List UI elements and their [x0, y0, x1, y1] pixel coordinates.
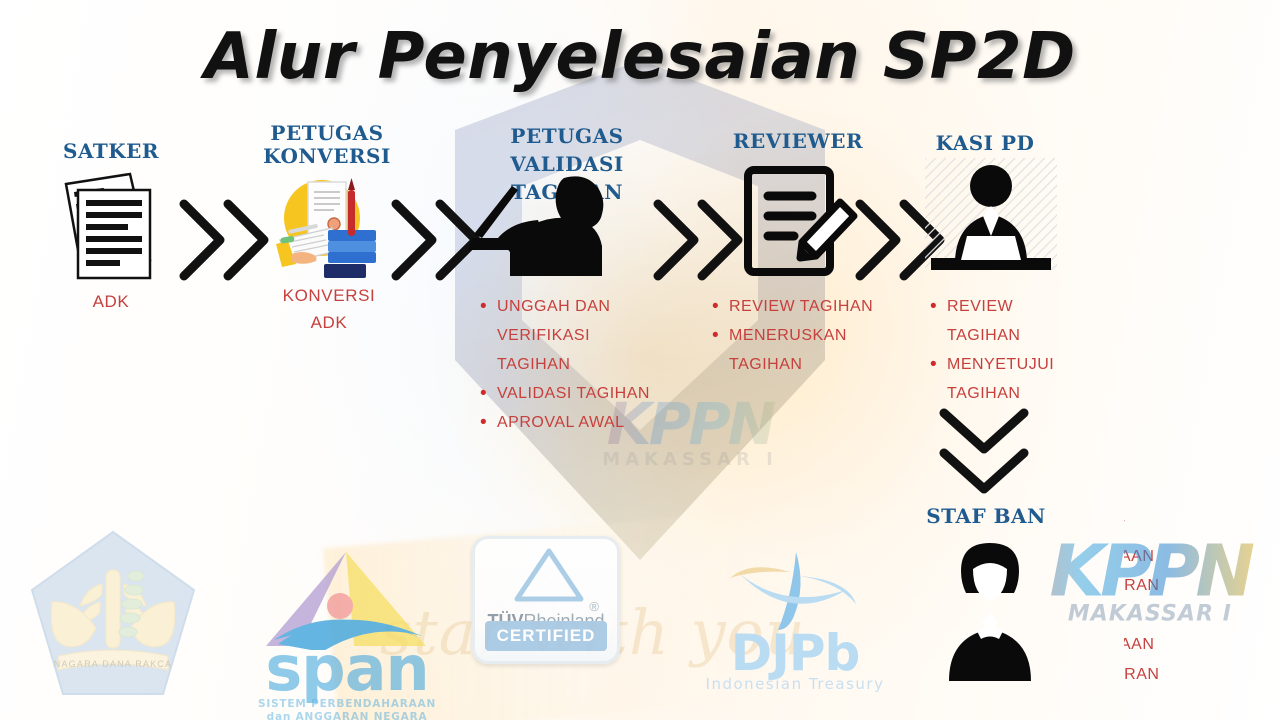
flow-step-staf-ban-header: STAF BAN: [910, 505, 1062, 528]
kemenkeu-logo: NAGARA DANA RAKCA: [28, 528, 198, 708]
staf-ban-note-line: RMINTAAN: [1124, 542, 1280, 572]
flow-step-petugas-validasi-bullets: UNGGAH DAN VERIFIKASI TAGIHAN VALIDASI T…: [480, 292, 660, 438]
djpb-logo: DJPb Indonesian Treasury: [700, 548, 890, 693]
span-wordmark: span: [258, 644, 436, 694]
flow-step-reviewer-header: REVIEWER: [718, 130, 878, 153]
span-sub-line-1: SISTEM PERBENDAHARAAN: [258, 698, 436, 711]
flow-step-kasi-pd-header: KASI PD: [920, 132, 1050, 155]
person-desk-icon: [925, 158, 1057, 291]
bullet-item: MENERUSKAN TAGIHAN: [712, 321, 892, 379]
staf-ban-note-line: RMINTAAN: [1124, 630, 1280, 660]
staf-ban-notes: MBUAT RMINTAAN MBAYARAN IM RMINTAAN MBAY…: [1124, 512, 1280, 690]
staf-ban-note-line: MBAYARAN: [1124, 660, 1280, 690]
staf-ban-note-line: MBUAT: [1124, 512, 1280, 542]
flow-step-reviewer-bullets: REVIEW TAGIHAN MENERUSKAN TAGIHAN: [712, 292, 892, 379]
person-laptop-icon: [468, 168, 640, 285]
page-title: Alur Penyelesaian SP2D: [0, 20, 1280, 94]
tuv-rheinland-logo: ® TÜVRheinland CERTIFIED: [472, 536, 620, 664]
bullet-item: REVIEW TAGIHAN: [712, 292, 892, 321]
bullet-item: REVIEW TAGIHAN: [930, 292, 1090, 350]
flow-step-kasi-pd[interactable]: KASI PD: [920, 132, 1050, 155]
flow-step-satker-caption: ADK: [46, 288, 176, 315]
double-chevron-right-icon: [176, 192, 276, 293]
bullet-item: APROVAL AWAL: [480, 408, 660, 437]
flow-step-reviewer[interactable]: REVIEWER: [718, 130, 878, 153]
flow-step-petugas-konversi[interactable]: PETUGAS KONVERSI: [262, 122, 392, 168]
konversi-books-icon: [266, 172, 384, 289]
documents-icon: [52, 168, 172, 285]
infographic-canvas: KPPN MAKASSAR I star with you Alur Penye…: [0, 0, 1280, 720]
flow-step-satker-header: SATKER: [46, 140, 176, 163]
djpb-wordmark: DJPb: [700, 632, 890, 675]
staf-ban-note-line: MBAYARAN: [1124, 571, 1280, 601]
tuv-certified-badge: CERTIFIED: [485, 621, 607, 651]
flow-step-petugas-konversi-caption: KONVERSI ADK: [262, 282, 396, 336]
bullet-item: VALIDASI TAGIHAN: [480, 379, 660, 408]
document-pencil-icon: [740, 162, 860, 285]
kemenkeu-scroll-text: NAGARA DANA RAKCA: [54, 659, 172, 669]
span-logo: span SISTEM PERBENDAHARAAN dan ANGGARAN …: [258, 548, 436, 720]
staf-ban-note-line: IM: [1124, 601, 1280, 631]
double-chevron-right-icon: [650, 192, 750, 293]
span-sub-line-2: dan ANGGARAN NEGARA: [258, 711, 436, 720]
bullet-item: UNGGAH DAN VERIFIKASI TAGIHAN: [480, 292, 660, 379]
flow-step-kasi-pd-bullets: REVIEW TAGIHAN MENYETUJUI TAGIHAN: [930, 292, 1090, 408]
double-chevron-down-icon: [930, 405, 1038, 506]
flow-step-satker[interactable]: SATKER: [46, 140, 176, 163]
bullet-item: MENYETUJUI TAGIHAN: [930, 350, 1090, 408]
flow-step-staf-ban[interactable]: STAF BAN: [910, 505, 1062, 528]
person-portrait-icon: [935, 535, 1045, 690]
djpb-subtitle: Indonesian Treasury: [700, 675, 890, 693]
flow-step-petugas-konversi-header: PETUGAS KONVERSI: [262, 122, 392, 168]
